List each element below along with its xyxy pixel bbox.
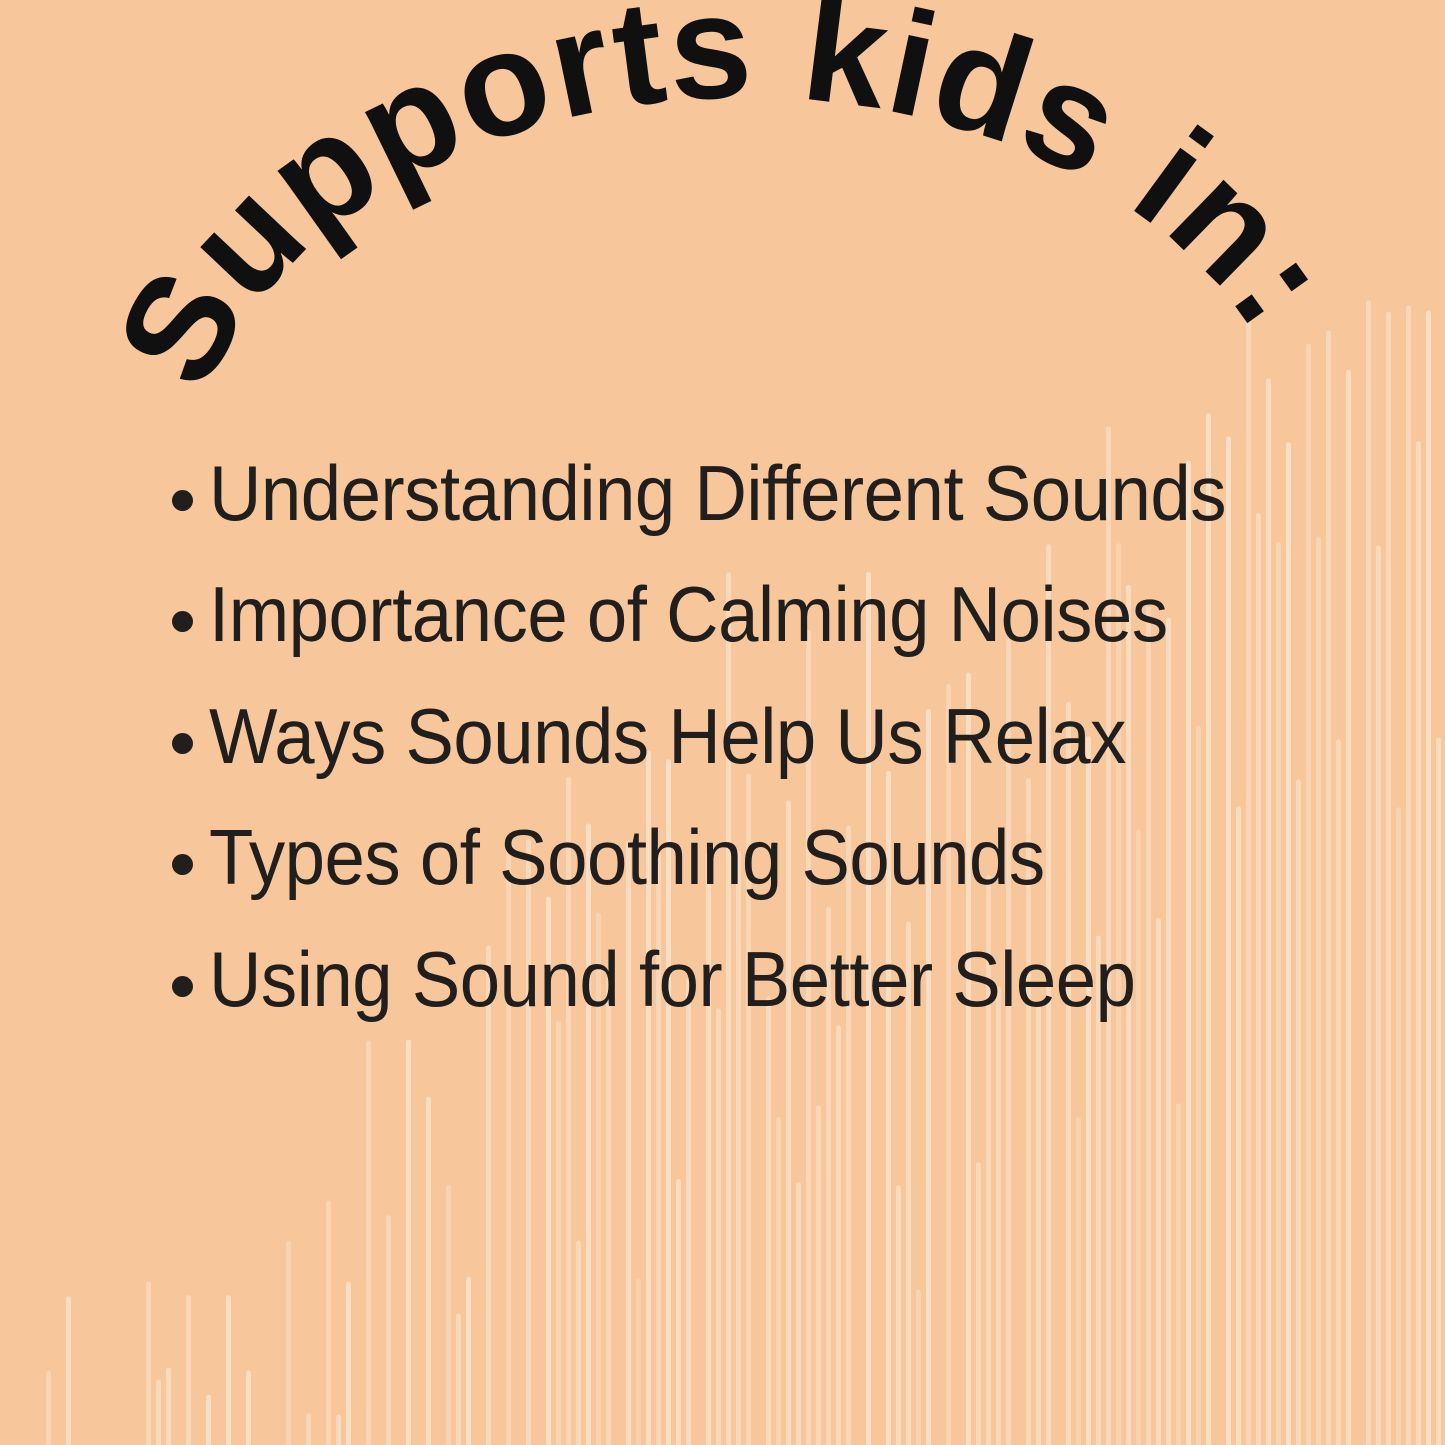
list-item-label: Importance of Calming Noises [209, 573, 1305, 656]
list-item-label: Types of Soothing Sounds [209, 816, 1305, 899]
page-title: Supports kids in: [85, 0, 1365, 411]
page-title-text: Supports kids in: [85, 0, 1365, 411]
list-item-label: Using Sound for Better Sleep [209, 938, 1305, 1021]
bullet-dot-icon [172, 854, 193, 875]
bullet-dot-icon [172, 611, 193, 632]
list-item-label: Understanding Different Sounds [209, 452, 1305, 535]
list-item: Understanding Different Sounds [172, 452, 1387, 535]
bullet-dot-icon [172, 490, 193, 511]
list-item: Using Sound for Better Sleep [172, 938, 1387, 1021]
heading-arc-svg: Supports kids in: [0, 0, 1445, 430]
list-item: Types of Soothing Sounds [172, 816, 1387, 899]
supports-list: Understanding Different Sounds Importanc… [172, 452, 1387, 1059]
list-item-label: Ways Sounds Help Us Relax [209, 695, 1305, 778]
bullet-dot-icon [172, 733, 193, 754]
poster-canvas: Supports kids in: Understanding Differen… [0, 0, 1445, 1445]
list-item: Importance of Calming Noises [172, 573, 1387, 656]
list-item: Ways Sounds Help Us Relax [172, 695, 1387, 778]
bullet-dot-icon [172, 976, 193, 997]
